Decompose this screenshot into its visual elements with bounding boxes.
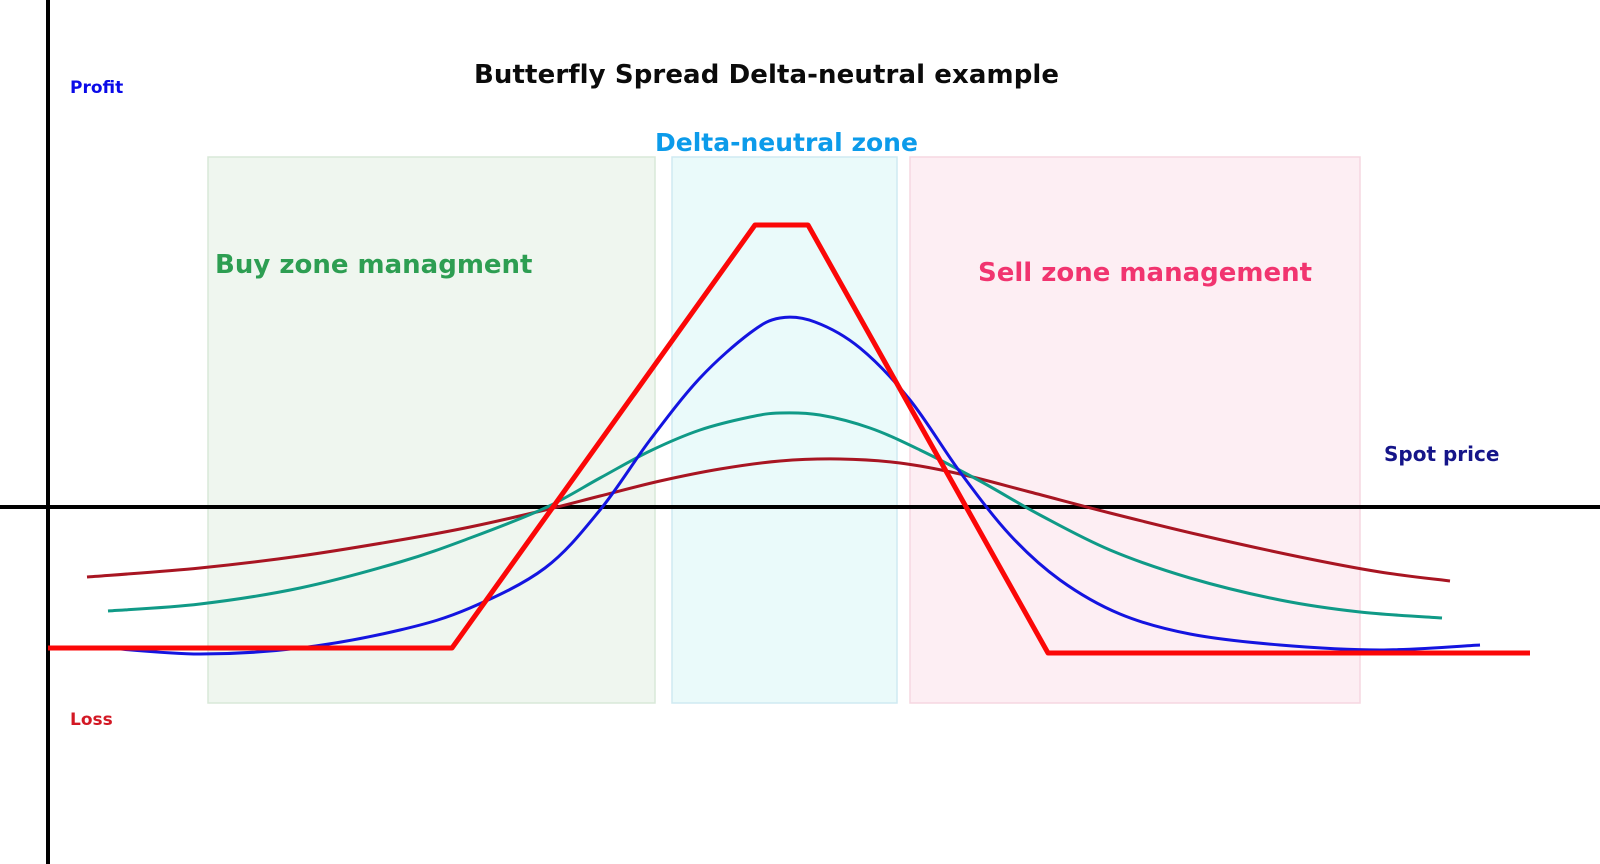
y-axis-profit-label: Profit xyxy=(70,80,123,97)
page-title: Butterfly Spread Delta-neutral example xyxy=(474,62,1059,88)
y-axis-loss-label: Loss xyxy=(70,712,113,729)
butterfly-spread-chart: Butterfly Spread Delta-neutral example D… xyxy=(0,0,1600,864)
zone-bands-group xyxy=(208,157,1360,703)
delta-neutral-zone-label: Delta-neutral zone xyxy=(655,130,918,155)
x-axis-spot-price-label: Spot price xyxy=(1384,444,1499,464)
buy-zone-label: Buy zone managment xyxy=(215,252,532,278)
sell-zone-label: Sell zone management xyxy=(978,260,1312,286)
delta-neutral-band xyxy=(672,157,897,703)
